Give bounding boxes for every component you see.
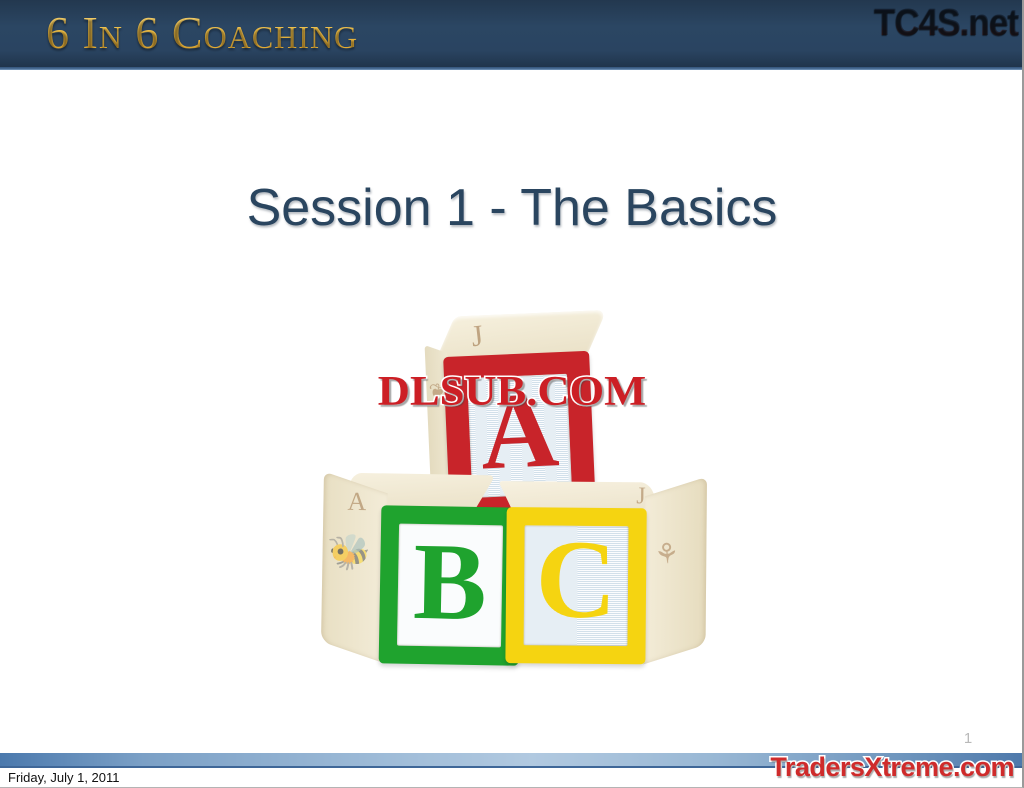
presentation-slide: 6 In 6 Coaching TC4S.net Session 1 - The… [0, 0, 1024, 788]
block-b-side-engraving: A [347, 487, 366, 517]
slide-title: Session 1 - The Basics [0, 178, 1024, 238]
slide-page-number: 1 [955, 730, 981, 747]
block-a-top-engraving: J [470, 319, 485, 354]
tc4s-logo[interactable]: TC4S.net [874, 2, 1018, 45]
block-c-letter: C [520, 523, 633, 636]
block-c-front-face: C [505, 507, 646, 664]
tradersxtreme-brand[interactable]: TradersXtreme.com [770, 752, 1014, 783]
block-b-front-face: B [379, 505, 522, 665]
block-c-side-engraving: ⚘ [653, 536, 680, 571]
block-b-letter: B [395, 526, 505, 638]
dlsub-watermark: DLSUB.COM [0, 368, 1024, 416]
bee-engraving-icon: 🐝 [326, 530, 373, 575]
block-b: A 🐝 B [318, 472, 522, 700]
block-c: J ⚘ C [505, 481, 707, 703]
footer-date: Friday, July 1, 2011 [8, 770, 120, 785]
course-title: 6 In 6 Coaching [46, 6, 358, 59]
block-b-side-face: A 🐝 [321, 472, 388, 664]
slide-header-bar: 6 In 6 Coaching TC4S.net [0, 0, 1024, 70]
block-c-side-face: ⚘ [643, 477, 707, 665]
